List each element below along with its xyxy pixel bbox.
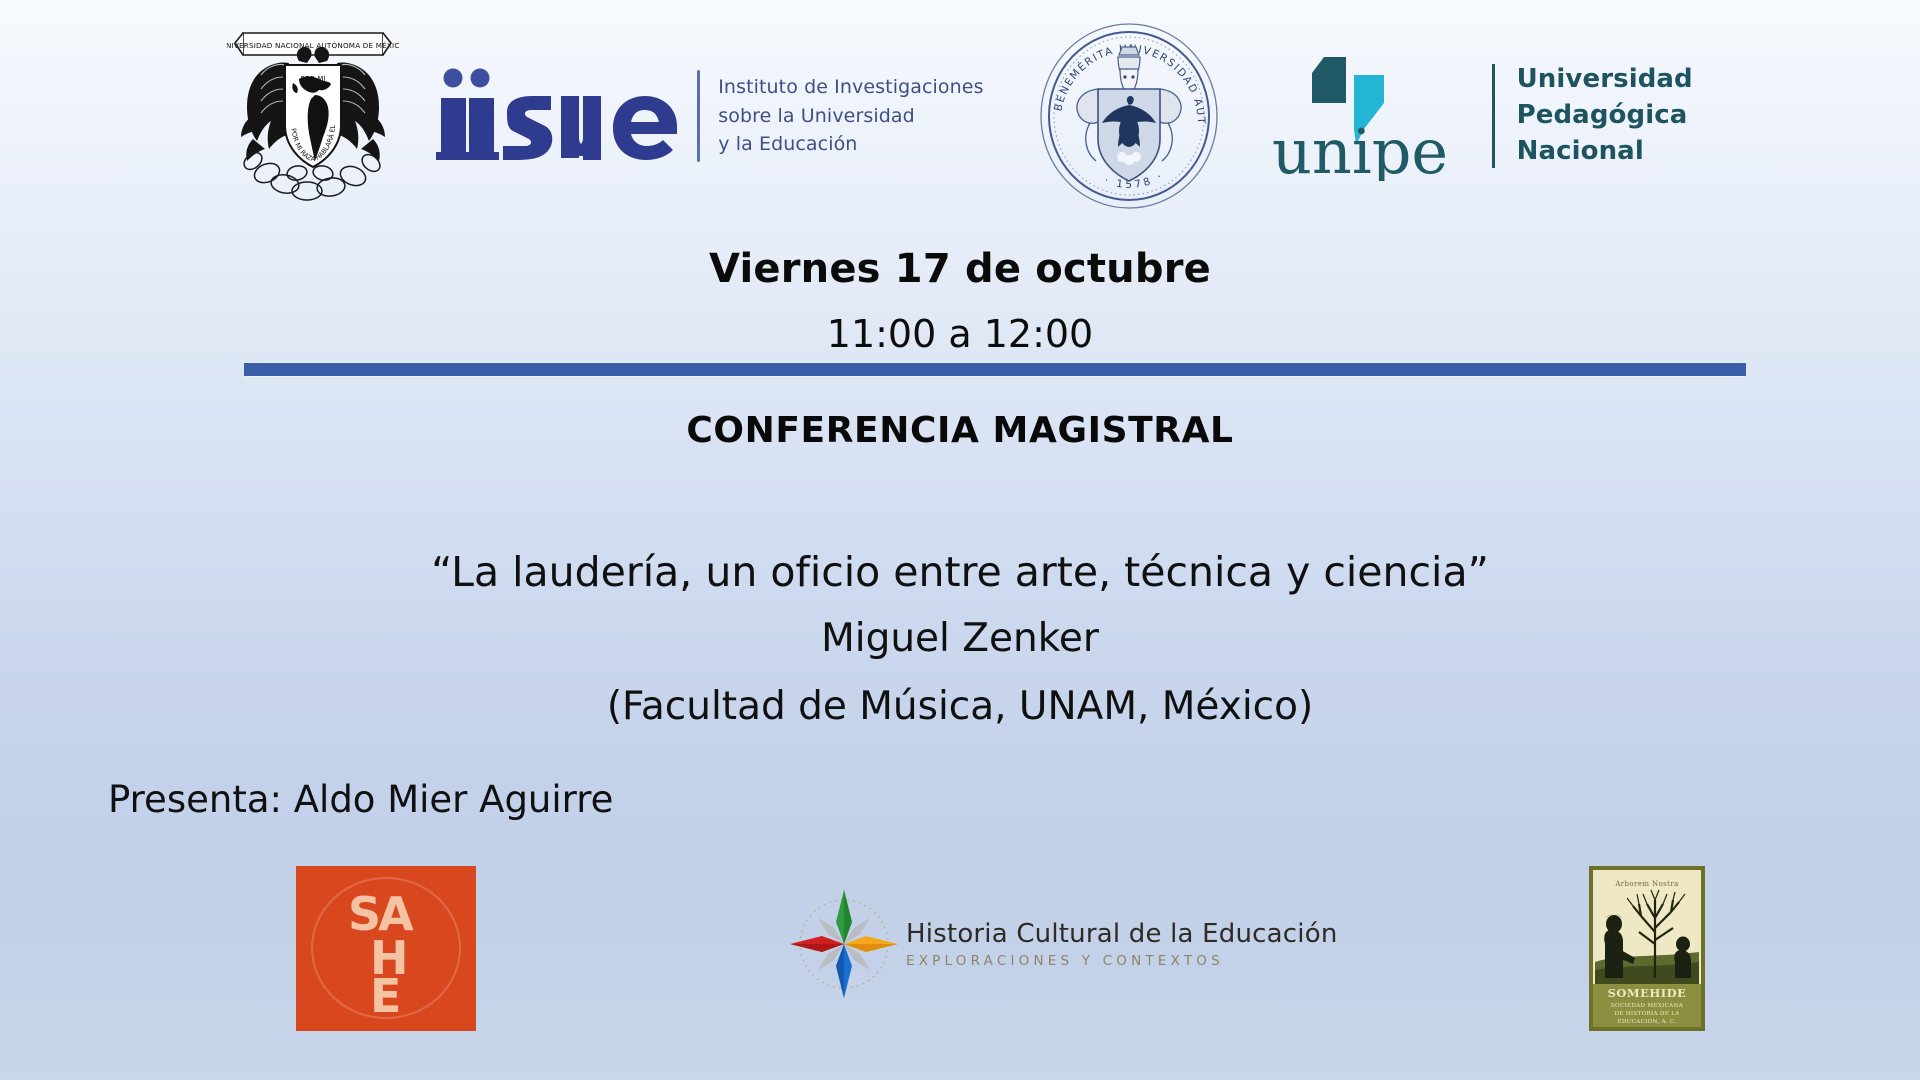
svg-text:EDUCACIÓN, A. C.: EDUCACIÓN, A. C. — [1617, 1017, 1676, 1025]
event-time: 11:00 a 12:00 — [0, 312, 1920, 356]
svg-text:SOCIEDAD MEXICANA: SOCIEDAD MEXICANA — [1611, 1003, 1684, 1009]
iisue-divider-rule — [697, 70, 700, 162]
historia-cultural-title: Historia Cultural de la Educación — [906, 919, 1338, 949]
iisue-wordmark-icon — [435, 56, 683, 176]
svg-text:unipe: unipe — [1272, 115, 1448, 181]
buap-seal-icon: BENEMÉRITA UNIVERSIDAD AUTÓNOMA DE PUEBL… — [1036, 21, 1222, 211]
unipe-tagline-line-2: Pedagógica — [1517, 98, 1693, 134]
unipe-wordmark-icon: unipe — [1268, 51, 1474, 181]
historia-cultural-subtitle: EXPLORACIONES Y CONTEXTOS — [906, 953, 1338, 969]
section-divider — [244, 363, 1746, 376]
unipe-tagline-line-3: Nacional — [1517, 134, 1693, 170]
iisue-tagline-line-3: y la Educación — [718, 130, 983, 159]
unam-shield-icon: UNIVERSIDAD NACIONAL AUTÓNOMA DE MÉXICO — [227, 21, 399, 211]
conference-announcement-slide: UNIVERSIDAD NACIONAL AUTÓNOMA DE MÉXICO — [0, 0, 1920, 1080]
unipe-tagline-line-1: Universidad — [1517, 62, 1693, 98]
iisue-tagline-line-2: sobre la Universidad — [718, 102, 983, 131]
unipe-divider-rule — [1492, 64, 1495, 168]
iisue-lockup: Instituto de Investigaciones sobre la Un… — [435, 56, 983, 176]
unipe-lockup: unipe Universidad Pedagógica Nacional — [1268, 51, 1693, 181]
speaker-name: Miguel Zenker — [0, 616, 1920, 661]
somehide-logo-icon: Arborem Nostra — [1589, 866, 1705, 1031]
svg-text:UNIVERSIDAD NACIONAL AUTÓNOMA: UNIVERSIDAD NACIONAL AUTÓNOMA DE MÉXICO — [227, 41, 399, 50]
event-date: Viernes 17 de octubre — [0, 246, 1920, 292]
svg-text:SOMEHIDE: SOMEHIDE — [1608, 986, 1687, 1000]
unipe-tagline: Universidad Pedagógica Nacional — [1517, 62, 1693, 170]
svg-text:POR MI: POR MI — [301, 75, 326, 83]
talk-title: “La laudería, un oficio entre arte, técn… — [0, 548, 1920, 596]
iisue-tagline-line-1: Instituto de Investigaciones — [718, 73, 983, 102]
unam-logo-group: UNIVERSIDAD NACIONAL AUTÓNOMA DE MÉXICO — [227, 21, 983, 211]
iisue-tagline: Instituto de Investigaciones sobre la Un… — [718, 73, 983, 160]
presenter-name: Presenta: Aldo Mier Aguirre — [108, 778, 613, 821]
svg-text:E: E — [370, 969, 401, 1023]
compass-rose-icon — [788, 888, 900, 1000]
sahe-logo-icon: SA H E — [296, 866, 476, 1031]
svg-text:DE HISTORIA DE LA: DE HISTORIA DE LA — [1614, 1011, 1680, 1017]
svg-text:Arborem Nostra: Arborem Nostra — [1614, 880, 1678, 888]
header-logo-band: UNIVERSIDAD NACIONAL AUTÓNOMA DE MÉXICO — [0, 16, 1920, 216]
historia-cultural-text: Historia Cultural de la Educación EXPLOR… — [906, 919, 1338, 969]
event-type-label: CONFERENCIA MAGISTRAL — [0, 410, 1920, 451]
historia-cultural-logo: Historia Cultural de la Educación EXPLOR… — [788, 885, 1270, 1003]
speaker-affiliation: (Facultad de Música, UNAM, México) — [0, 684, 1920, 729]
